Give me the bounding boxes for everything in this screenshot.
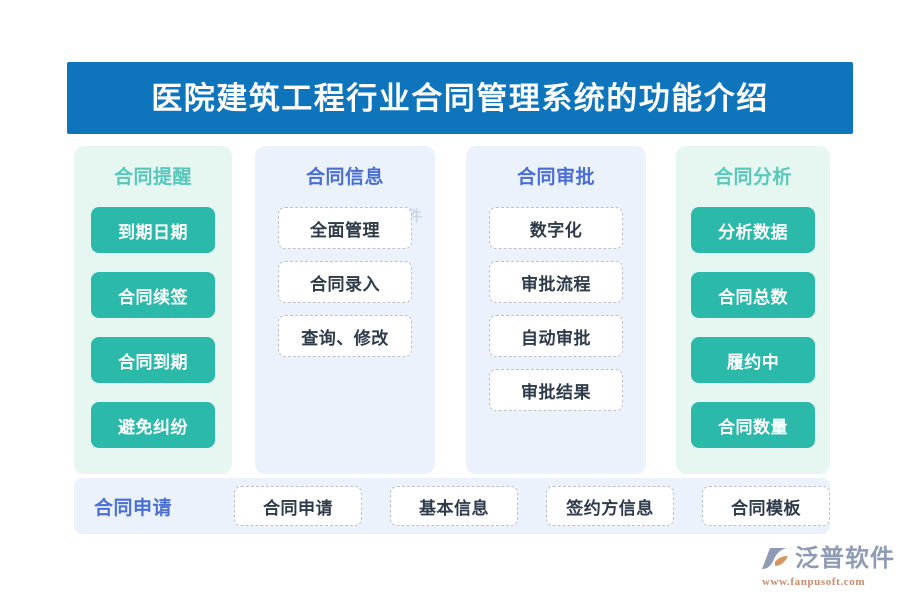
panel-contract-analysis: 合同分析 分析数据 合同总数 履约中 合同数量 [676,146,830,474]
title-banner: 医院建筑工程行业合同管理系统的功能介绍 [67,62,853,134]
brand-url: www.fanpusoft.com [762,576,865,588]
panel-title-contract-analysis: 合同分析 [714,168,792,187]
bottom-bar-item[interactable]: 签约方信息 [546,486,674,526]
feature-item[interactable]: 数字化 [489,207,623,249]
panel-title-contract-approval: 合同审批 [517,168,595,187]
feature-item[interactable]: 审批流程 [489,261,623,303]
bottom-bar-item[interactable]: 合同申请 [234,486,362,526]
feature-item[interactable]: 全面管理 [278,207,412,249]
feature-item[interactable]: 审批结果 [489,369,623,411]
feature-item[interactable]: 到期日期 [91,207,215,253]
bottom-bar-contract-application: 合同申请 合同申请 基本信息 签约方信息 合同模板 [74,478,830,534]
feature-item[interactable]: 合同数量 [691,402,815,448]
bottom-bar-label: 合同申请 [94,493,234,520]
bottom-bar-item[interactable]: 基本信息 [390,486,518,526]
feature-item[interactable]: 合同续签 [91,272,215,318]
feature-item[interactable]: 分析数据 [691,207,815,253]
feature-item[interactable]: 合同总数 [691,272,815,318]
page-title: 医院建筑工程行业合同管理系统的功能介绍 [151,83,769,114]
brand-row: 泛普软件 [760,546,895,572]
feature-columns: 合同提醒 到期日期 合同续签 合同到期 避免纠纷 合同信息 全面管理 合同录入 … [74,146,830,474]
bottom-bar-item[interactable]: 合同模板 [702,486,830,526]
panel-contract-approval: 合同审批 数字化 审批流程 自动审批 审批结果 [466,146,646,474]
brand-logo: 泛普软件 www.fanpusoft.com [760,546,895,588]
panel-title-contract-reminder: 合同提醒 [114,168,192,187]
feature-item[interactable]: 查询、修改 [278,315,412,357]
bottom-bar-items: 合同申请 基本信息 签约方信息 合同模板 [234,486,830,526]
panel-title-contract-info: 合同信息 [306,168,384,187]
feature-item[interactable]: 合同到期 [91,337,215,383]
panel-contract-reminder: 合同提醒 到期日期 合同续签 合同到期 避免纠纷 [74,146,232,474]
feature-item[interactable]: 自动审批 [489,315,623,357]
feature-item[interactable]: 避免纠纷 [91,402,215,448]
fanpu-logo-icon [760,546,790,572]
infographic-canvas: 医院建筑工程行业合同管理系统的功能介绍 合同提醒 到期日期 合同续签 合同到期 … [0,0,900,600]
feature-item[interactable]: 合同录入 [278,261,412,303]
panel-contract-info: 合同信息 全面管理 合同录入 查询、修改 [255,146,435,474]
feature-item[interactable]: 履约中 [691,337,815,383]
brand-name: 泛普软件 [795,547,895,571]
